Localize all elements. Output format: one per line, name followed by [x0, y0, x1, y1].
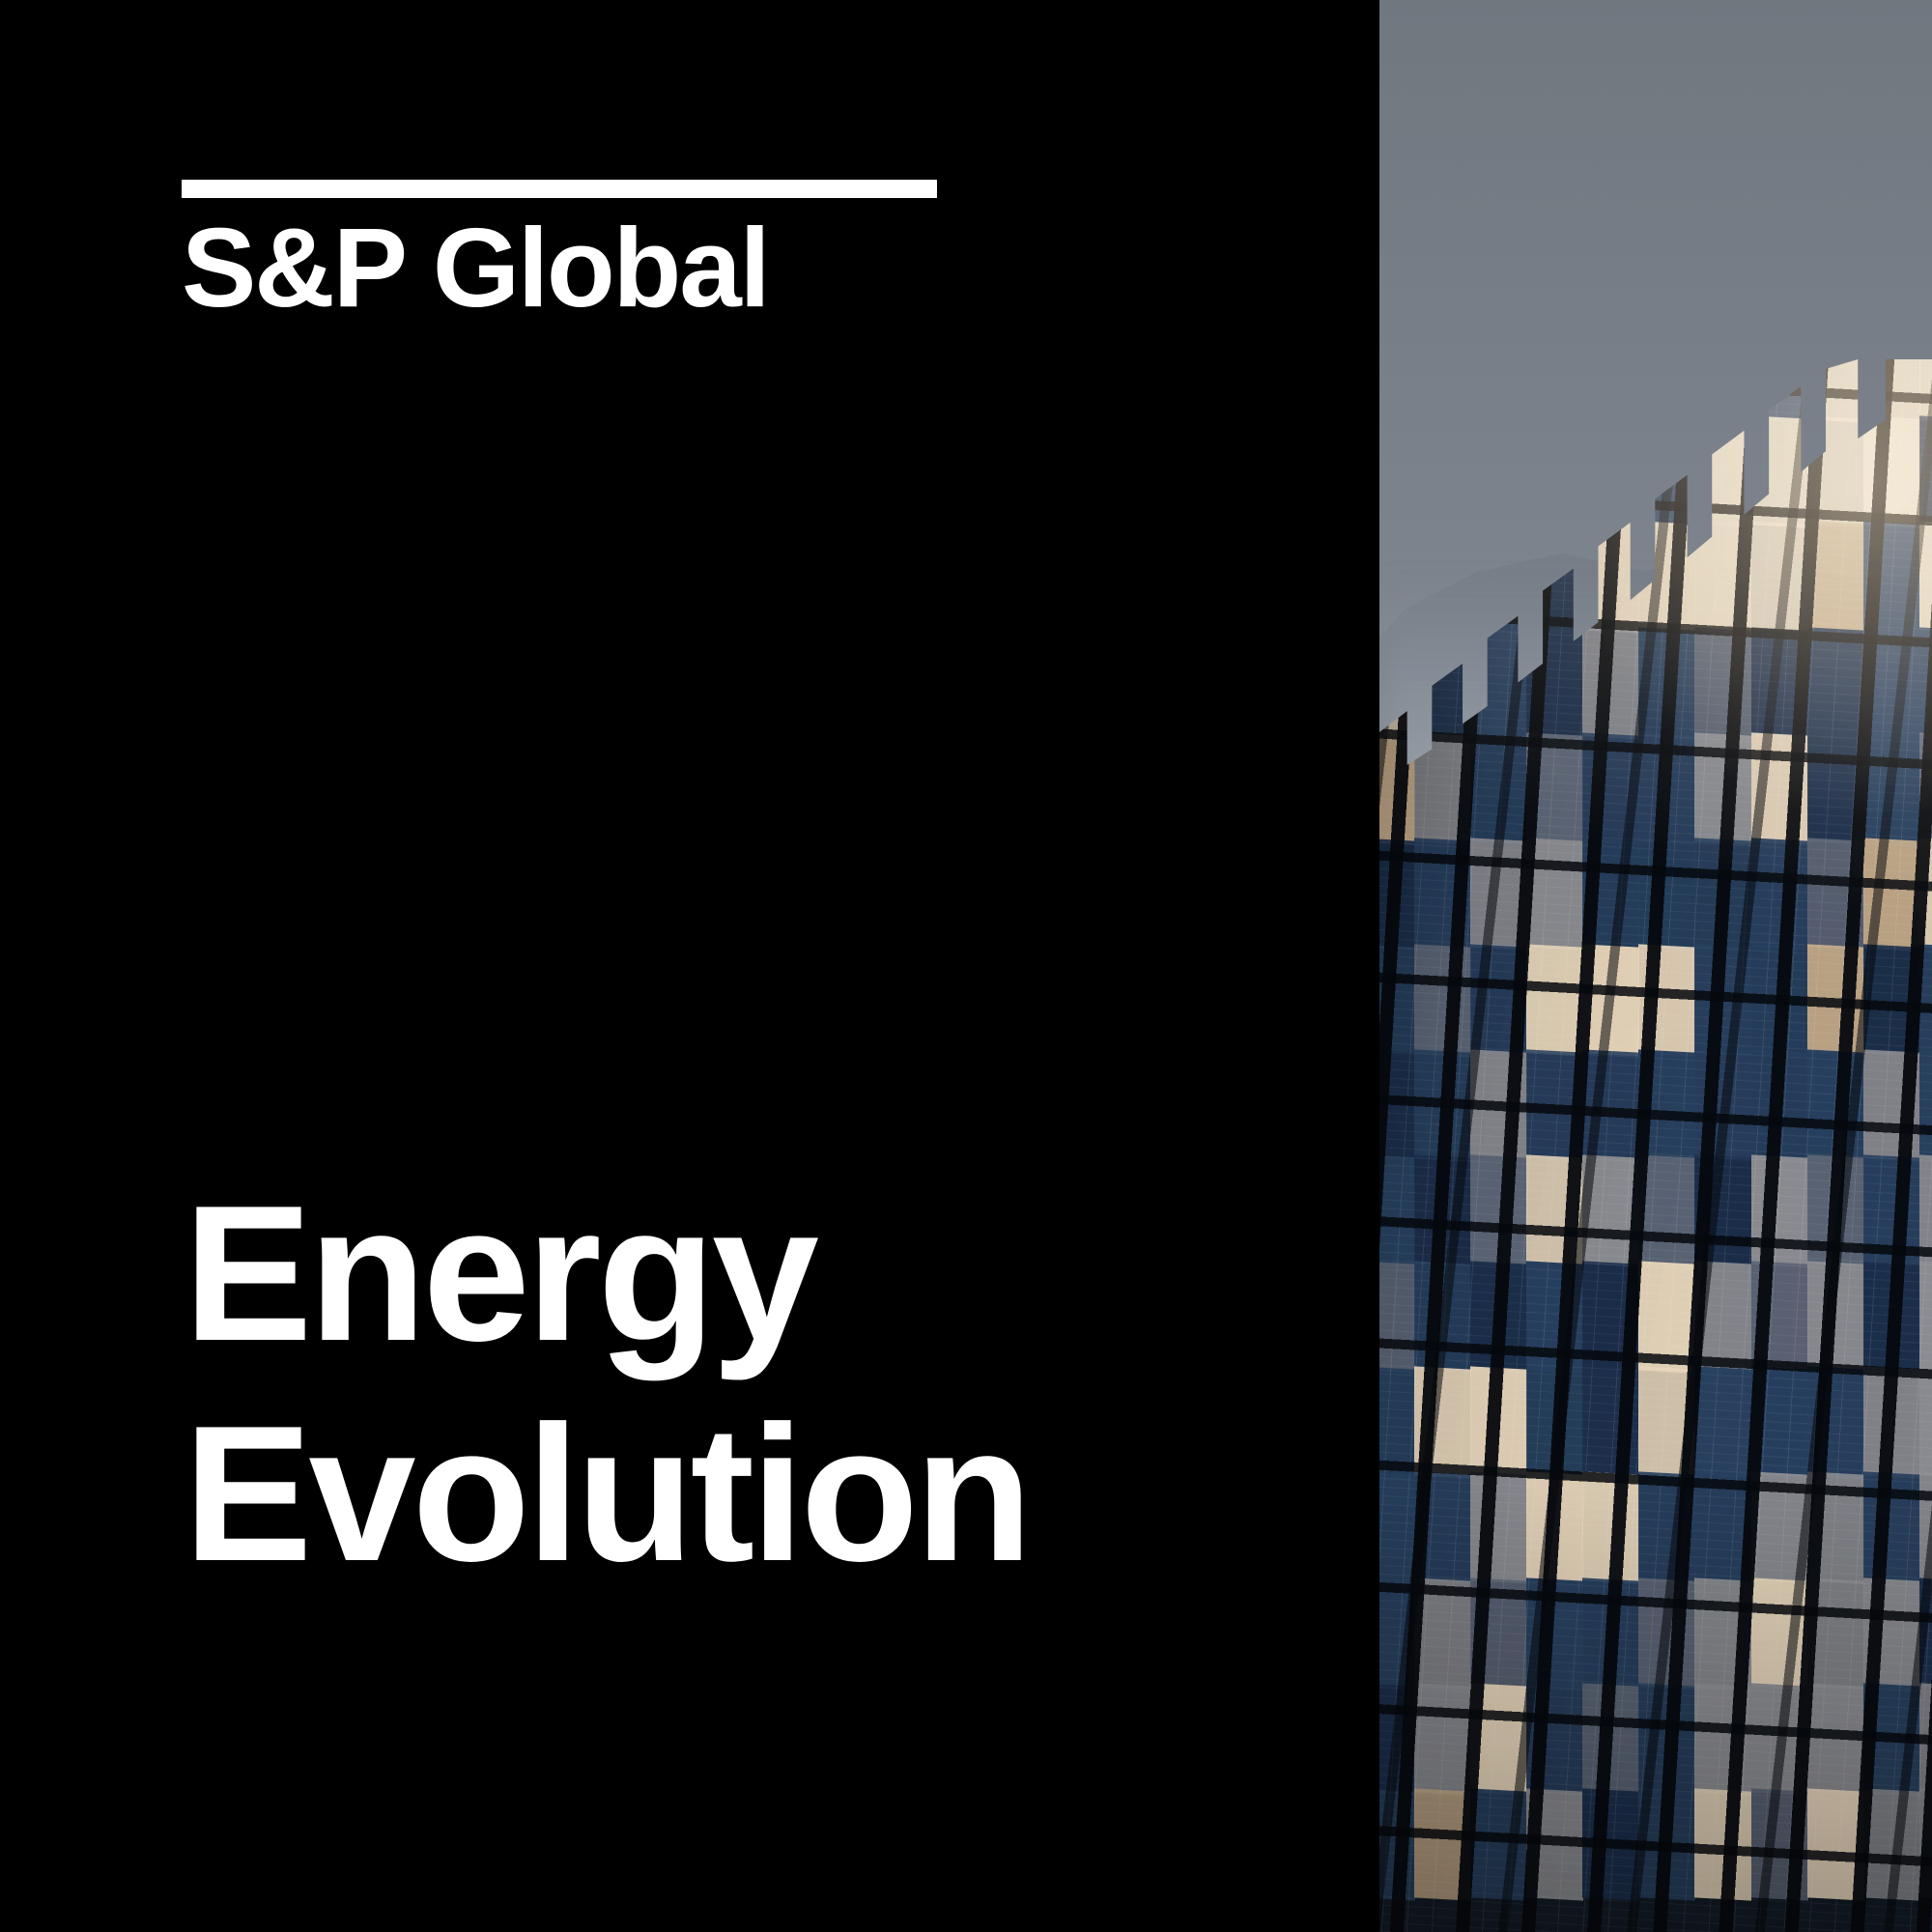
- show-title-line-2: Evolution: [184, 1384, 1323, 1605]
- sp-global-logo: S&P Global: [182, 180, 937, 324]
- brand-name: S&P Global: [182, 212, 937, 324]
- show-title: Energy Evolution: [184, 1164, 1323, 1605]
- logo-rule-line: [182, 180, 937, 198]
- podcast-cover-artwork: S&P Global Energy Evolution: [0, 0, 1932, 1932]
- show-title-line-1: Energy: [184, 1164, 1323, 1384]
- solar-building-photograph: [1379, 0, 1932, 1932]
- black-title-panel: S&P Global Energy Evolution: [0, 0, 1379, 1932]
